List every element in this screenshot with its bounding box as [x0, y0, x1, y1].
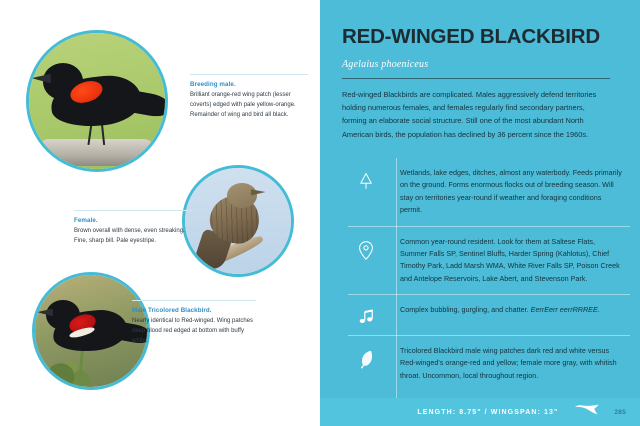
section-habitat: Wetlands, lake edges, ditches, almost an…: [344, 158, 632, 226]
section-similar-species: Tricolored Blackbird male wing patches d…: [344, 336, 632, 391]
feather-icon: [344, 345, 388, 370]
music-note-icon: [344, 304, 388, 326]
species-title: RED-WINGED BLACKBIRD: [342, 27, 624, 48]
page-footer: LENGTH: 8.75" / WINGSPAN: 13" 285: [320, 398, 640, 426]
info-header: RED-WINGED BLACKBIRD Agelaius phoeniceus…: [342, 0, 624, 141]
section-locations: Common year-round resident. Look for the…: [344, 227, 632, 295]
title-divider: [342, 78, 610, 80]
sound-vocalization: EerrEerr eerrRRREE.: [531, 305, 600, 314]
breeding-male-photo: [26, 30, 168, 172]
caption-tricolored-male: Male Tricolored Blackbird. Nearly identi…: [132, 300, 256, 346]
page-number: 285: [614, 409, 626, 416]
left-photo-page: Breeding male. Brilliant orange-red wing…: [0, 0, 320, 426]
caption-body: Brilliant orange-red wing patch (lesser …: [190, 91, 308, 120]
caption-body: Brown overall with dense, even streaking…: [74, 227, 192, 246]
female-photo: [182, 165, 294, 277]
sound-text: Complex bubbling, gurgling, and chatter.…: [388, 304, 624, 316]
caption-rule: [190, 74, 308, 75]
similar-species-text: Tricolored Blackbird male wing patches d…: [388, 345, 624, 382]
flying-bird-silhouette-icon: [574, 403, 600, 421]
habitat-text: Wetlands, lake edges, ditches, almost an…: [388, 167, 624, 217]
caption-breeding-male: Breeding male. Brilliant orange-red wing…: [190, 74, 308, 120]
caption-title: Male Tricolored Blackbird.: [132, 307, 256, 315]
pine-tree-icon: [344, 167, 388, 191]
sound-description: Complex bubbling, gurgling, and chatter.: [400, 305, 531, 314]
caption-title: Breeding male.: [190, 81, 308, 89]
section-sound: Complex bubbling, gurgling, and chatter.…: [344, 295, 632, 335]
species-intro: Red-winged Blackbirds are complicated. M…: [342, 88, 610, 141]
caption-rule: [132, 300, 256, 301]
info-sections: Wetlands, lake edges, ditches, almost an…: [344, 158, 632, 391]
caption-body: Nearly identical to Red-winged. Wing pat…: [132, 317, 256, 346]
scientific-name: Agelaius phoeniceus: [342, 59, 624, 70]
field-guide-spread: Breeding male. Brilliant orange-red wing…: [0, 0, 640, 426]
locations-text: Common year-round resident. Look for the…: [388, 236, 624, 286]
caption-rule: [74, 210, 192, 211]
caption-female: Female. Brown overall with dense, even s…: [74, 210, 192, 247]
map-pin-icon: [344, 236, 388, 261]
measurements-label: LENGTH: 8.75" / WINGSPAN: 13": [417, 409, 558, 416]
bird-head: [227, 183, 257, 208]
caption-title: Female.: [74, 217, 192, 225]
